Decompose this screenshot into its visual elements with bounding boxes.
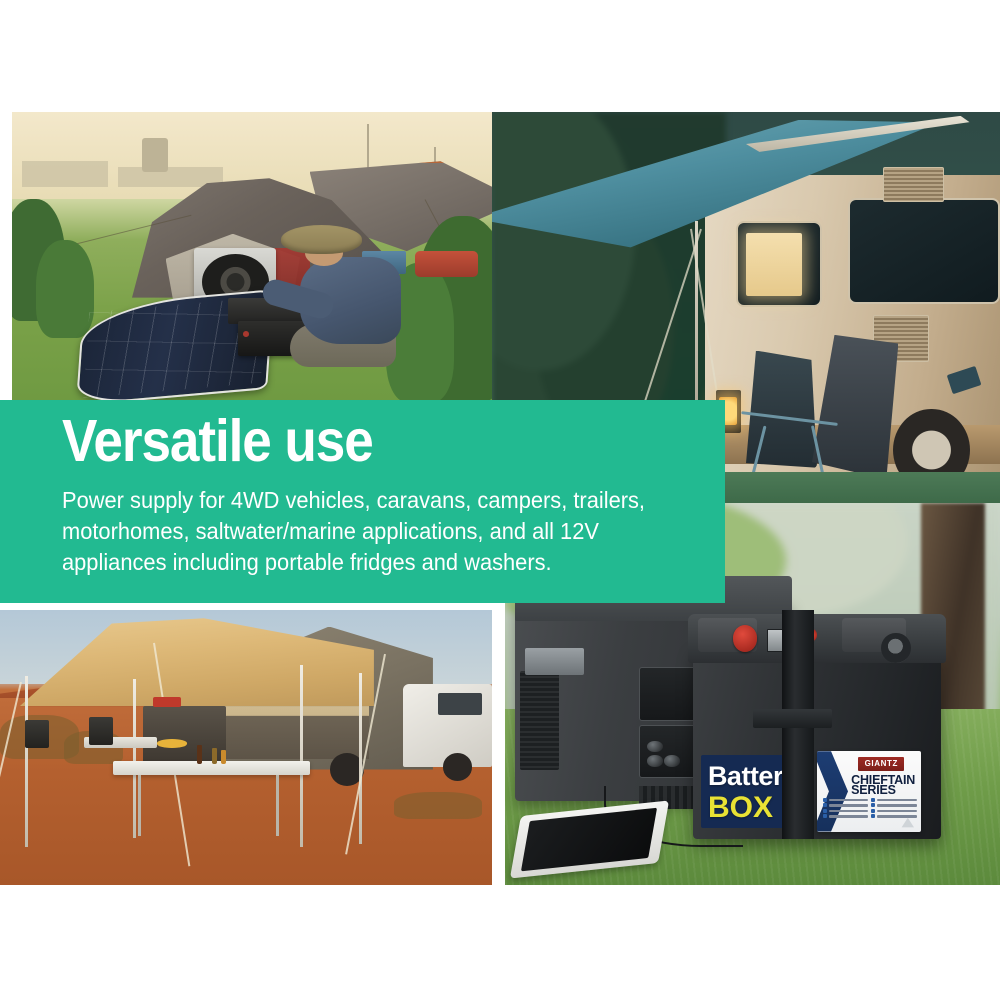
canopy-pole <box>300 665 303 847</box>
check-icon <box>871 814 875 818</box>
scrub-bush <box>394 792 483 820</box>
background-building <box>22 161 108 187</box>
feature-item <box>823 809 868 813</box>
green-text-overlay: Versatile use Power supply for 4WD vehic… <box>0 400 725 603</box>
bottle <box>212 748 217 765</box>
check-icon <box>871 798 875 802</box>
fridge-button <box>647 741 663 752</box>
feature-item <box>871 803 916 807</box>
luggage-case <box>415 251 477 277</box>
strap-buckle <box>753 709 832 728</box>
series-line-2: SERIES <box>851 784 896 797</box>
table-leg <box>276 775 279 836</box>
fridge-button <box>664 755 680 766</box>
product-feature-banner: Battery BOX GIANTZ CHIEFTAIN SERIES <box>0 0 1000 1000</box>
bottle <box>221 750 226 764</box>
fridge-vent <box>520 671 560 770</box>
camp-chair <box>89 717 114 745</box>
bucket-hat <box>281 225 363 254</box>
caravan-window <box>848 198 1000 304</box>
check-icon <box>823 809 827 813</box>
bottle <box>197 745 202 764</box>
photo-outback-camper <box>0 610 492 885</box>
vehicle-wheel <box>443 753 473 781</box>
headline: Versatile use <box>62 412 373 471</box>
water-tower-icon <box>142 138 168 172</box>
canopy-pole <box>25 676 28 847</box>
fridge-button <box>647 755 663 766</box>
campsite-scene <box>12 112 492 402</box>
check-icon <box>823 814 827 818</box>
table-leg <box>138 775 141 836</box>
check-icon <box>871 803 875 807</box>
pole <box>367 124 369 170</box>
feature-item <box>871 809 916 813</box>
feature-item <box>823 798 868 802</box>
body-copy: Power supply for 4WD vehicles, caravans,… <box>62 485 643 578</box>
body-line-1: Power supply for 4WD vehicles, caravans,… <box>62 485 643 516</box>
check-icon <box>871 809 875 813</box>
power-socket <box>881 633 911 664</box>
fridge-handle <box>525 648 584 675</box>
feature-item <box>871 798 916 802</box>
check-icon <box>823 798 827 802</box>
body-line-3: appliances including portable fridges an… <box>62 547 643 578</box>
caravan-vent <box>883 167 944 202</box>
mixing-bowl <box>157 739 187 747</box>
body-line-2: motorhomes, saltwater/marine application… <box>62 516 643 547</box>
outback-scene <box>0 610 492 885</box>
giantz-brand-logo: GIANTZ <box>858 757 904 771</box>
canopy-pole <box>359 673 362 844</box>
shrub <box>36 240 94 339</box>
feature-item <box>823 814 868 818</box>
canopy-pole <box>133 679 136 839</box>
photo-camping-solar <box>12 112 492 402</box>
chevron-graphic <box>817 751 848 831</box>
feature-item <box>823 803 868 807</box>
vehicle-window <box>438 693 482 715</box>
camp-chair <box>25 720 50 748</box>
feature-checklist <box>823 798 917 819</box>
feature-item <box>871 814 916 818</box>
recycle-icon <box>901 817 915 828</box>
lit-curtain <box>746 233 802 296</box>
chieftain-series-sticker: GIANTZ CHIEFTAIN SERIES <box>817 751 921 831</box>
check-icon <box>823 803 827 807</box>
